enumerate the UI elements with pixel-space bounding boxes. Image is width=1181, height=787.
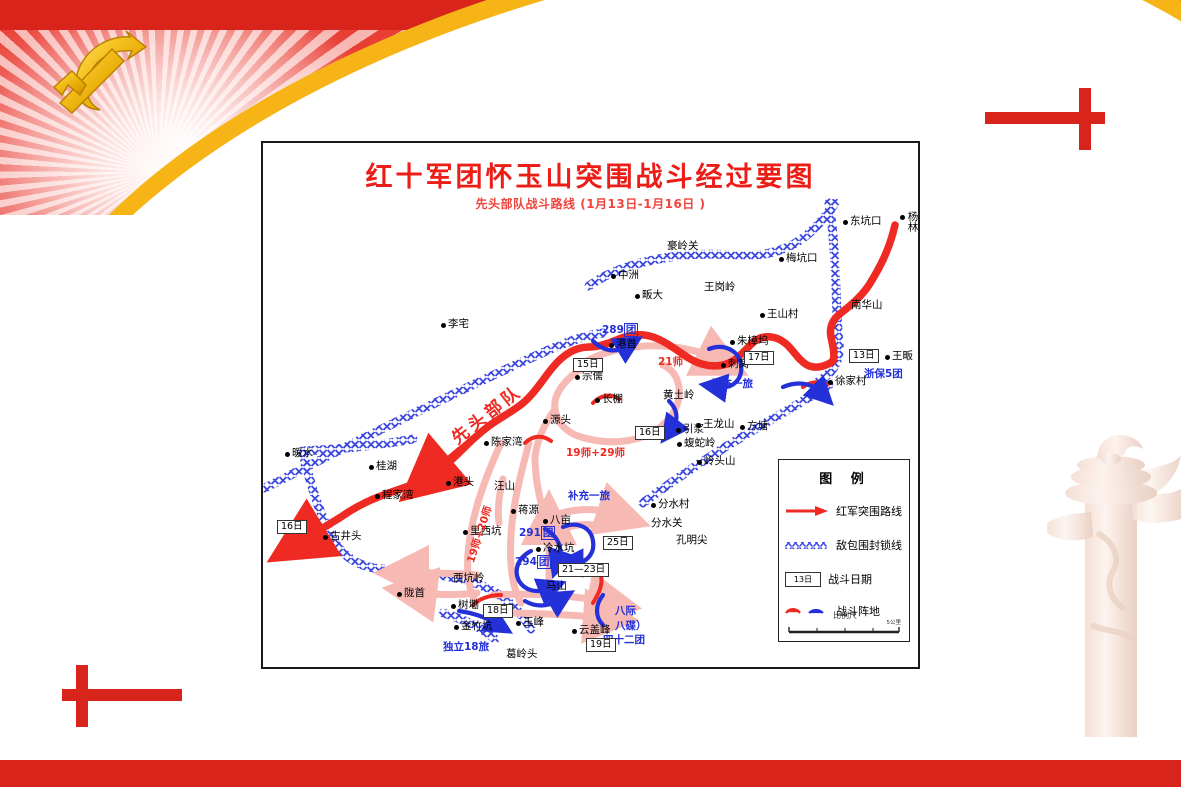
battle-date-marker: 15日 [573,358,603,372]
place-label: 徐家村 [835,376,867,387]
place-dot [651,503,656,508]
place-dot [697,460,702,465]
place-label: 李宅 [448,319,469,330]
place-dot [885,355,890,360]
place-dot [454,625,459,630]
place-dot [536,547,541,552]
place-label: 宗儒 [582,371,603,382]
place-label: 港首 [616,339,637,350]
legend-row-date: 13日 战斗日期 [785,570,872,588]
map-frame: 红十军团怀玉山突围战斗经过要图 先头部队战斗路线 (1月13日-1月16日 ) [261,141,920,669]
place-label: 桂湖 [376,461,397,472]
battle-date-marker: 13日 [849,349,879,363]
place-label: 东坑口 [850,216,882,227]
enemy-unit-label: 291团 [519,528,555,539]
cross-mark-bottom-left [62,665,182,727]
battle-date-marker: 19日 [586,638,616,652]
place-dot [543,519,548,524]
place-label: 王岗岭 [704,282,736,293]
place-label: 豪岭关 [667,241,699,252]
place-label: 方塘 [747,421,768,432]
legend-row-red-route: 红军突围路线 [785,502,902,520]
place-label: 孔明尖 [676,535,708,546]
battle-date-marker: 21—23日 [558,563,609,577]
place-dot [609,343,614,348]
place-label: 古井头 [330,531,362,542]
place-dot [397,592,402,597]
battle-date-marker: 25日 [603,536,633,550]
enemy-unit-label: 补充一旅 [568,491,610,502]
place-label: 王龙山 [703,419,735,430]
place-dot [730,340,735,345]
place-label: 朱樟坞 [737,336,769,347]
place-dot [828,380,833,385]
place-label: 分水村 [658,499,690,510]
place-dot [677,442,682,447]
blue-xxx-line-icon [785,539,829,551]
place-label: 西坑岭 [453,573,485,584]
place-dot [740,425,745,430]
enemy-unit-label: 独立18旅 [443,642,489,653]
place-dot [484,441,489,446]
place-dot [511,509,516,514]
place-label: 黄土岭 [663,390,695,401]
place-dot [900,215,905,220]
place-label: 中洲 [618,270,639,281]
place-label: 冷水坑 [543,543,575,554]
place-dot [843,220,848,225]
place-dot [572,629,577,634]
place-dot [611,274,616,279]
enemy-unit-label: 补充一旅 [711,379,753,390]
place-dot [760,313,765,318]
place-label: 八亩 [550,515,571,526]
enemy-unit-label: 294团 [515,557,551,568]
place-dot [285,452,290,457]
red-arrow-icon [785,505,829,517]
legend-title: 图 例 [779,468,911,487]
place-dot [369,465,374,470]
place-dot [323,535,328,540]
place-dot [441,323,446,328]
place-label: 金竹坑 [461,621,493,632]
cross-mark-top-right [985,88,1105,150]
place-label: 汪山 [494,481,515,492]
place-dot [721,363,726,368]
scale-bar-unit: 5公里 [887,618,902,626]
place-dot [446,481,451,486]
place-dot [676,428,681,433]
bottom-red-band [0,760,1181,787]
place-label: 暖水 [292,448,313,459]
place-dot [635,294,640,299]
legend-label-date: 战斗日期 [828,571,872,587]
place-label: 程家湾 [382,490,414,501]
place-label: 长棚 [602,394,623,405]
map-legend: 图 例 红军突围路线 [778,459,910,642]
place-label: 马山 [546,581,567,592]
battle-date-marker: 16日 [635,426,665,440]
place-dot [696,423,701,428]
huabiao-ornamental-column [1001,415,1181,737]
place-label: 蒋源 [518,505,539,516]
red-unit-label: 21师 [658,357,683,368]
enemy-unit-label: 289团 [602,325,638,336]
legend-row-blockade: 敌包围封锁线 [785,536,902,554]
enemy-unit-label: 八碟） [615,621,647,632]
place-label: 南华山 [851,300,883,311]
place-dot [543,419,548,424]
place-label: 分水关 [651,518,683,529]
battle-date-marker: 17日 [744,351,774,365]
place-dot [375,494,380,499]
place-dot [463,530,468,535]
red-unit-label: 19师+29师 [566,448,625,459]
place-dot [779,257,784,262]
place-dot [595,398,600,403]
place-label: 王畈 [892,351,913,362]
place-label: 陈家湾 [491,437,523,448]
place-label: 陇首 [404,588,425,599]
place-label: 王山村 [767,309,799,320]
place-dot [451,604,456,609]
scale-bar-icon [787,626,903,636]
battle-date-marker: 16日 [277,520,307,534]
poster-canvas: 红十军团怀玉山突围战斗经过要图 先头部队战斗路线 (1月13日-1月16日 ) [0,0,1181,787]
place-label: 源头 [550,415,571,426]
map-canvas: 红十军团怀玉山突围战斗经过要图 先头部队战斗路线 (1月13日-1月16日 ) [263,143,918,667]
enemy-unit-label: 浙保5团 [864,369,903,380]
place-label: 树墈 [458,600,479,611]
legend-label-blockade: 敌包围封锁线 [836,537,902,553]
cpc-hammer-sickle-emblem [42,25,162,120]
enemy-unit-label: 八际 [615,606,636,617]
place-dot [516,621,521,626]
legend-label-red-route: 红军突围路线 [836,503,902,519]
place-label: 梅坑口 [786,253,818,264]
place-label: 畈大 [642,290,663,301]
place-label: 岭头山 [704,456,736,467]
place-label: 葛岭头 [506,649,538,660]
place-label: 玉峰 [523,617,544,628]
battle-date-marker: 18日 [483,604,513,618]
place-dot [575,375,580,380]
place-label: 港头 [453,477,474,488]
date-box-icon: 13日 [785,572,821,587]
place-label: 杨林 [907,211,918,232]
place-label: 蝮蛇岭 [684,438,716,449]
